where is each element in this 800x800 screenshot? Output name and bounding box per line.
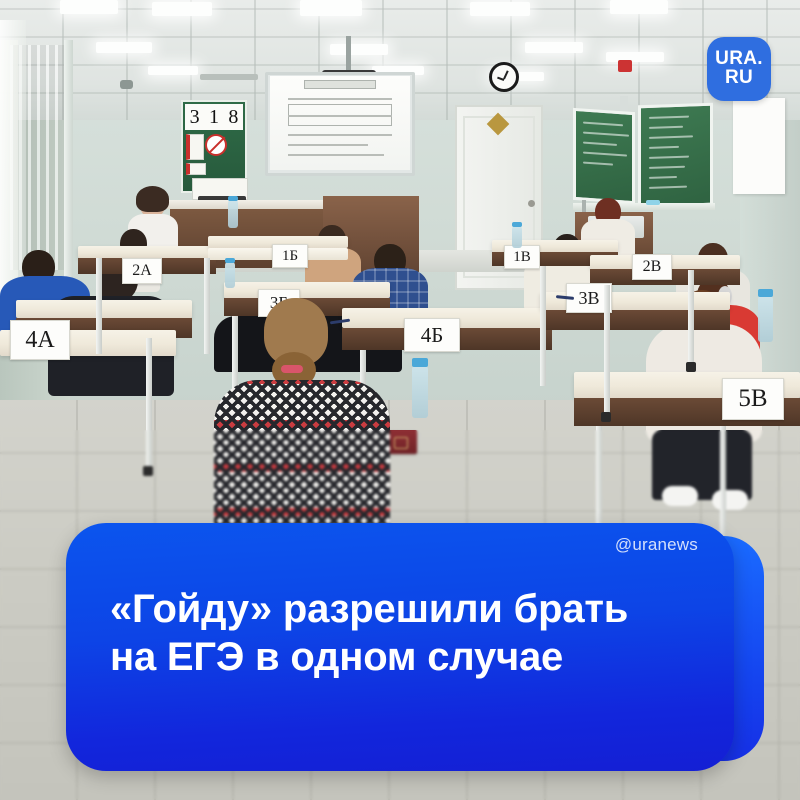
ceiling-light	[330, 44, 388, 55]
water-bottle	[758, 296, 773, 342]
cctv-camera-icon	[120, 80, 133, 89]
ceiling-light	[606, 52, 664, 62]
chalk-stick	[646, 200, 660, 205]
slide-header	[304, 80, 376, 89]
exit-sign-icon	[618, 60, 632, 72]
slide-line	[288, 154, 384, 156]
desk-surface	[78, 246, 216, 258]
desk-apron	[540, 310, 730, 330]
desk-plate: 5В	[722, 378, 784, 420]
water-bottle	[225, 262, 235, 288]
ceiling-light	[300, 0, 362, 16]
ceiling-light	[152, 2, 212, 16]
desk-leg	[146, 338, 152, 468]
ura-ru-logo[interactable]: URA. RU	[707, 37, 771, 101]
desk-caster	[686, 362, 696, 372]
desk-plate: 4Б	[404, 318, 460, 352]
headline-line-2: на ЕГЭ в одном случае	[110, 633, 694, 681]
wall-clock-icon	[489, 62, 519, 92]
bottle-cap	[225, 258, 235, 263]
notice-paper	[186, 163, 206, 175]
room-number-sign: 3 1 8	[185, 104, 243, 130]
headline-banner: @uranews «Гойду» разрешили брать на ЕГЭ …	[66, 523, 734, 771]
desk-plate: 2В	[632, 254, 672, 280]
desk-leg	[96, 258, 102, 354]
desk-leg	[688, 270, 694, 366]
chalkboard-right	[638, 103, 713, 209]
ceiling-light	[60, 0, 118, 14]
headline-line-1: «Гойду» разрешили брать	[110, 587, 628, 631]
desk-surface	[16, 300, 192, 318]
slide-line	[288, 134, 392, 136]
desk-leg	[540, 266, 546, 386]
slide-line	[288, 98, 392, 100]
notice-paper	[186, 134, 204, 160]
water-bottle	[228, 200, 238, 228]
logo-line-2: RU	[725, 69, 753, 88]
social-handle[interactable]: @uranews	[615, 535, 698, 555]
bottle-cap	[412, 358, 428, 367]
window-frame	[64, 40, 73, 280]
water-bottle	[412, 366, 428, 418]
desk-caster	[601, 412, 611, 422]
room-digit-3: 8	[228, 106, 238, 129]
headline-text: «Гойду» разрешили брать на ЕГЭ в одном с…	[110, 585, 694, 681]
bottle-cap	[228, 196, 238, 201]
desk-leg	[604, 285, 610, 415]
bottle-cap	[758, 289, 773, 297]
bottle-cap	[512, 222, 522, 227]
ceiling-light	[470, 2, 530, 16]
wall-paper-sheet	[733, 98, 785, 194]
door-knob	[528, 200, 535, 207]
desk-plate: 2А	[122, 258, 162, 284]
water-bottle	[512, 226, 522, 248]
projector-mount	[346, 36, 351, 74]
slide-line	[288, 115, 392, 117]
ceiling-light	[96, 42, 152, 53]
room-digit-1: 3	[190, 106, 200, 129]
ceiling-light	[525, 42, 583, 53]
desk-plate: 4А	[10, 320, 70, 360]
ceiling-light	[610, 0, 668, 14]
desk-leg	[204, 258, 210, 354]
projection-screen	[270, 76, 410, 170]
ceiling-vent	[200, 74, 258, 80]
ceiling-light	[148, 66, 198, 75]
chalkboard-left	[573, 108, 635, 204]
no-phones-icon	[205, 134, 227, 156]
slide-line	[288, 144, 368, 146]
desk-leg	[720, 426, 726, 536]
desk-plate: 1Б	[272, 244, 308, 268]
news-card: 3 1 8	[0, 0, 800, 800]
room-digit-2: 1	[209, 106, 219, 129]
desk-leg	[596, 426, 602, 536]
desk-plate: 1В	[504, 245, 540, 269]
desk-caster	[143, 466, 153, 476]
desk-surface	[224, 282, 390, 298]
